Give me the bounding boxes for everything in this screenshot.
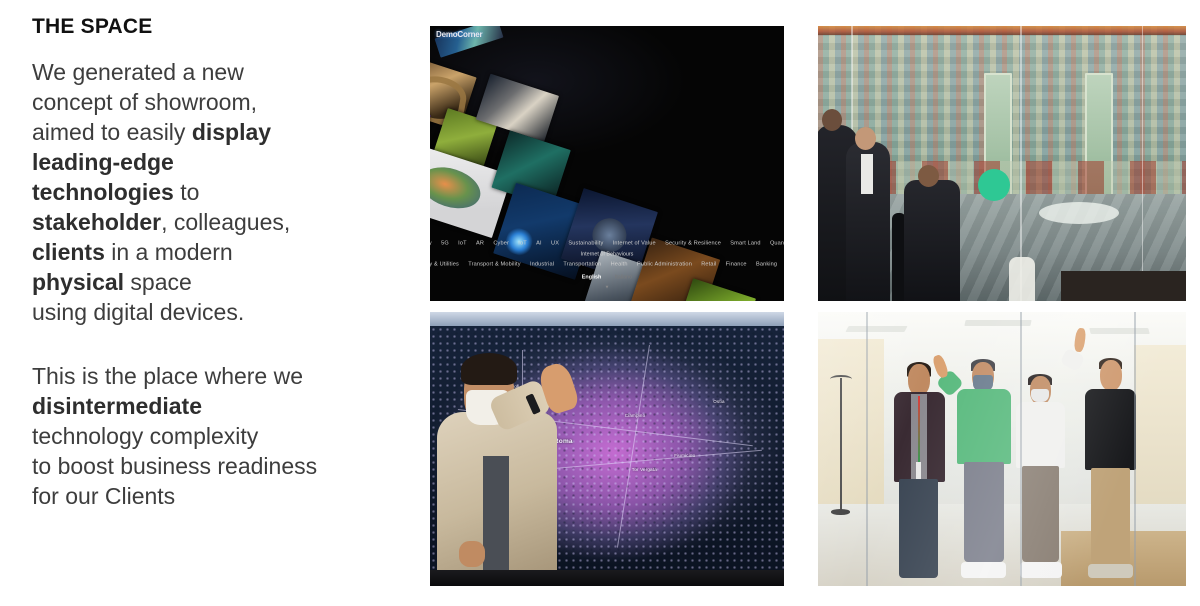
team-member-shoes (1088, 564, 1132, 577)
gallery-image-showroom-carousel-screen[interactable]: DemoCorner AllEnergy5GIoTARCyberIoTAIUXS… (430, 26, 784, 301)
language-alternate[interactable]: Italiano (615, 274, 632, 280)
menu-item[interactable]: Transportation (563, 261, 601, 268)
glass-mullion (1142, 26, 1144, 301)
team-member-shoes (961, 562, 1006, 578)
gallery-image-immersive-fresco-room[interactable] (818, 26, 1186, 301)
lanyard (918, 396, 920, 464)
chevron-down-icon[interactable]: ▾ (430, 283, 784, 290)
paragraph-one: We generated a new concept of showroom, … (32, 57, 402, 327)
body-text: in a modern (105, 239, 233, 265)
emphasis-text: physical (32, 269, 124, 295)
foreground-counter (1061, 271, 1186, 301)
fresco-cornice (818, 26, 1186, 35)
menu-item[interactable]: Internet of Value (613, 240, 656, 247)
team-member-shirt (957, 389, 1011, 464)
map-label: Tor Vergata (632, 467, 657, 472)
office-wall (1134, 345, 1186, 526)
map-label: Fiumicino (674, 453, 695, 458)
menu-item[interactable]: Retail (701, 261, 716, 268)
glass-mullion (1134, 312, 1136, 586)
presenter-hair (461, 353, 516, 386)
visitor-head (855, 127, 876, 150)
ceiling-panel (846, 326, 908, 332)
menu-item[interactable]: Industrial (530, 261, 554, 268)
team-member-legs (964, 462, 1004, 562)
menu-item[interactable]: Security & Resilience (665, 240, 721, 247)
team-member-legs (1091, 468, 1131, 565)
menu-item[interactable]: Energy (430, 240, 432, 247)
team-member-shoes (1020, 562, 1062, 577)
team-member (1083, 353, 1138, 578)
team-member-head (1100, 360, 1122, 391)
emphasis-text: stakeholder (32, 209, 161, 235)
body-text: , colleagues, (161, 209, 290, 235)
menu-item[interactable]: 5G (441, 240, 449, 247)
menu-item[interactable]: Public Administration (637, 261, 692, 268)
display-bezel-top (430, 312, 784, 326)
paragraph-spacer (32, 327, 402, 361)
office-wall (818, 339, 884, 531)
hand-silhouette (1009, 257, 1035, 301)
presenter-shirt (483, 456, 509, 570)
menu-item[interactable]: Quantum Computing (770, 240, 784, 247)
menu-item[interactable]: Smart Land (730, 240, 760, 247)
body-text: technology complexity to boost business … (32, 423, 317, 509)
glass-mullion (866, 312, 868, 586)
menu-item[interactable]: Cyber (493, 240, 509, 247)
visitor-head (822, 109, 842, 131)
menu-item[interactable]: Sustainability (568, 240, 603, 247)
showroom-menu: AllEnergy5GIoTARCyberIoTAIUXSustainabili… (430, 240, 784, 289)
text-column: THE SPACE We generated a new concept of … (0, 0, 420, 606)
display-bezel-bottom (430, 570, 784, 586)
body-text: to (174, 179, 200, 205)
menu-item[interactable]: AI (536, 240, 542, 247)
team-member (892, 364, 947, 578)
floor-light-pool (1039, 202, 1119, 224)
ceiling-panel (1090, 328, 1150, 334)
language-switcher[interactable]: English Italiano (430, 274, 784, 280)
team-member (954, 350, 1013, 577)
emphasis-text: disintermediate (32, 393, 202, 419)
menu-primary-row[interactable]: AllEnergy5GIoTARCyberIoTAIUXSustainabili… (430, 238, 784, 249)
language-selected[interactable]: English (582, 274, 601, 280)
slide-root: THE SPACE We generated a new concept of … (0, 0, 1200, 606)
menu-item[interactable]: AR (476, 240, 484, 247)
glass-mullion (1020, 312, 1022, 586)
menu-item[interactable]: IoT (518, 240, 527, 247)
menu-secondary-title: Internet of Behaviours (430, 251, 784, 257)
paragraph-two: This is the place where we disintermedia… (32, 361, 402, 511)
coat-rack-base (831, 509, 849, 514)
menu-item[interactable]: UX (551, 240, 559, 247)
menu-item[interactable]: Transport & Mobility (468, 261, 520, 268)
map-label: Ciampino (625, 413, 646, 418)
menu-item[interactable]: Health (611, 261, 628, 268)
visitor-shirt (861, 154, 873, 194)
team-member-shirt (1016, 402, 1065, 468)
menu-item[interactable]: IoT (458, 240, 467, 247)
gallery-image-rome-heatmap-presentation[interactable]: Roma Ciampino Tor Vergata Fiumicino Tivo… (430, 312, 784, 586)
democorner-logo: DemoCorner (436, 30, 482, 39)
visitor-standing (846, 142, 890, 302)
presenter-figure (437, 350, 557, 569)
visitor-seated (904, 180, 960, 301)
coat-rack-pole (840, 378, 842, 515)
menu-item[interactable]: Energy & Utilities (430, 261, 459, 268)
gallery-image-office-glass-wall-team[interactable] (818, 312, 1186, 586)
presenter-lower-hand (459, 541, 485, 567)
team-member-polo (1085, 389, 1137, 470)
body-text: This is the place where we (32, 363, 303, 389)
team-member-legs (1022, 466, 1060, 562)
menu-item[interactable]: Finance (726, 261, 747, 268)
democorner-logo-text: DemoCorner (436, 30, 482, 39)
menu-secondary-row[interactable]: Energy & UtilitiesTransport & MobilityIn… (430, 261, 784, 268)
map-label: Ostia (713, 399, 725, 404)
image-gallery-grid: DemoCorner AllEnergy5GIoTARCyberIoTAIUXS… (430, 26, 1186, 586)
page-title: THE SPACE (32, 14, 402, 39)
visitor-head (918, 165, 939, 187)
menu-item[interactable]: Banking (756, 261, 777, 268)
emphasis-text: clients (32, 239, 105, 265)
green-accent-dot (978, 169, 1010, 201)
id-badge (916, 462, 922, 479)
team-member-legs (899, 479, 938, 577)
